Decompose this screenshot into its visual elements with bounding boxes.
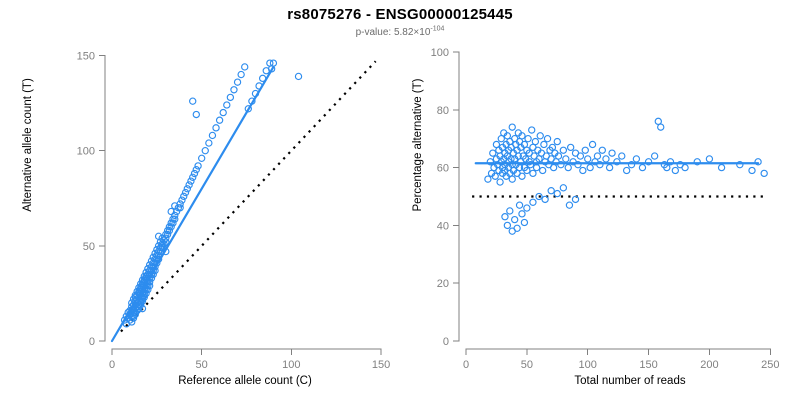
data-point (682, 165, 688, 171)
data-point (242, 64, 248, 70)
data-point (749, 167, 755, 173)
data-point (594, 153, 600, 159)
right-x-tick-label: 0 (463, 359, 469, 371)
data-point (530, 199, 536, 205)
figure-subtitle: p-value: 5.82×10-104 (0, 27, 800, 38)
data-point (537, 133, 543, 139)
left-y-tick-label: 150 (77, 51, 95, 63)
data-point (224, 102, 230, 108)
data-point (532, 138, 538, 144)
data-point (566, 202, 572, 208)
data-point (193, 167, 199, 173)
data-point (530, 170, 536, 176)
left-x-tick-label: 0 (109, 359, 115, 371)
right-y-axis-title: Percentage alternative (T) (412, 0, 424, 290)
right-x-tick-label: 250 (761, 359, 779, 371)
data-point (589, 141, 595, 147)
data-point (220, 110, 226, 116)
data-point (190, 174, 196, 180)
data-point (190, 98, 196, 104)
figure-title: rs8075276 - ENSG00000125445 (0, 6, 800, 23)
data-point (672, 167, 678, 173)
data-point (599, 147, 605, 153)
data-point (587, 165, 593, 171)
data-point (582, 147, 588, 153)
data-point (639, 165, 645, 171)
right-y-tick-label: 20 (437, 278, 449, 290)
right-x-axis-title: Total number of reads (480, 375, 780, 387)
pvalue-exponent: -104 (430, 26, 444, 33)
data-point (234, 79, 240, 85)
right-y-tick-label: 80 (437, 105, 449, 117)
left-y-tick-label: 0 (89, 336, 95, 348)
data-point (497, 179, 503, 185)
data-point (572, 196, 578, 202)
data-point (206, 140, 212, 146)
data-point (652, 153, 658, 159)
right-x-tick-label: 200 (700, 359, 718, 371)
data-point (485, 176, 491, 182)
right-x-tick-label: 50 (521, 359, 533, 371)
data-point (585, 156, 591, 162)
data-point (603, 156, 609, 162)
data-point (188, 178, 194, 184)
right-y-tick-label: 40 (437, 220, 449, 232)
data-point (540, 167, 546, 173)
data-point (609, 150, 615, 156)
left-scatter-points (112, 60, 376, 341)
data-point (193, 111, 199, 117)
data-point (529, 127, 535, 133)
right-scatter-points (472, 118, 767, 234)
data-point (624, 167, 630, 173)
data-point (514, 225, 520, 231)
data-point (560, 185, 566, 191)
data-point (202, 148, 208, 154)
data-point (525, 136, 531, 142)
plot-area: 050100150050100150 050100150200250020406… (0, 0, 800, 400)
data-point (213, 125, 219, 131)
data-point (544, 136, 550, 142)
data-point (509, 124, 515, 130)
data-point (238, 71, 244, 77)
data-point (633, 156, 639, 162)
left-x-tick-label: 100 (282, 359, 300, 371)
data-point (563, 156, 569, 162)
data-point (509, 176, 515, 182)
data-point (761, 170, 767, 176)
data-point (519, 173, 525, 179)
data-point (182, 189, 188, 195)
data-point (548, 188, 554, 194)
left-x-tick-label: 150 (372, 359, 390, 371)
data-point (718, 165, 724, 171)
data-point (295, 73, 301, 79)
data-point (560, 147, 566, 153)
data-point (554, 138, 560, 144)
data-point (519, 211, 525, 217)
right-y-tick-label: 100 (431, 47, 449, 59)
right-y-tick-label: 60 (437, 163, 449, 175)
data-point (554, 191, 560, 197)
right-x-tick-label: 100 (579, 359, 597, 371)
data-point (195, 163, 201, 169)
data-point (607, 165, 613, 171)
data-point (524, 205, 530, 211)
data-point (658, 124, 664, 130)
data-point (227, 94, 233, 100)
data-point (186, 182, 192, 188)
data-point (541, 141, 547, 147)
data-point (502, 214, 508, 220)
data-point (191, 170, 197, 176)
data-point (179, 197, 185, 203)
data-point (507, 208, 513, 214)
data-point (217, 117, 223, 123)
data-point (260, 75, 266, 81)
data-point (181, 193, 187, 199)
data-point (568, 144, 574, 150)
left-x-tick-label: 50 (196, 359, 208, 371)
data-point (521, 219, 527, 225)
data-point (542, 196, 548, 202)
data-point (199, 155, 205, 161)
data-point (619, 153, 625, 159)
data-point (231, 87, 237, 93)
right-axes: 050100150200250020406080100 (431, 47, 780, 371)
right-x-tick-label: 150 (639, 359, 657, 371)
left-y-tick-label: 50 (83, 241, 95, 253)
data-point (706, 156, 712, 162)
data-point (516, 202, 522, 208)
data-point (512, 217, 518, 223)
figure-canvas: rs8075276 - ENSG00000125445 p-value: 5.8… (0, 0, 800, 400)
left-y-axis-title: Alternative allele count (T) (22, 0, 34, 290)
data-point (209, 132, 215, 138)
data-point (580, 167, 586, 173)
left-x-axis-title: Reference allele count (C) (105, 375, 385, 387)
data-point (490, 150, 496, 156)
data-point (184, 186, 190, 192)
right-y-tick-label: 0 (443, 336, 449, 348)
left-y-tick-label: 100 (77, 146, 95, 158)
data-point (565, 165, 571, 171)
data-point (504, 222, 510, 228)
data-point (577, 153, 583, 159)
